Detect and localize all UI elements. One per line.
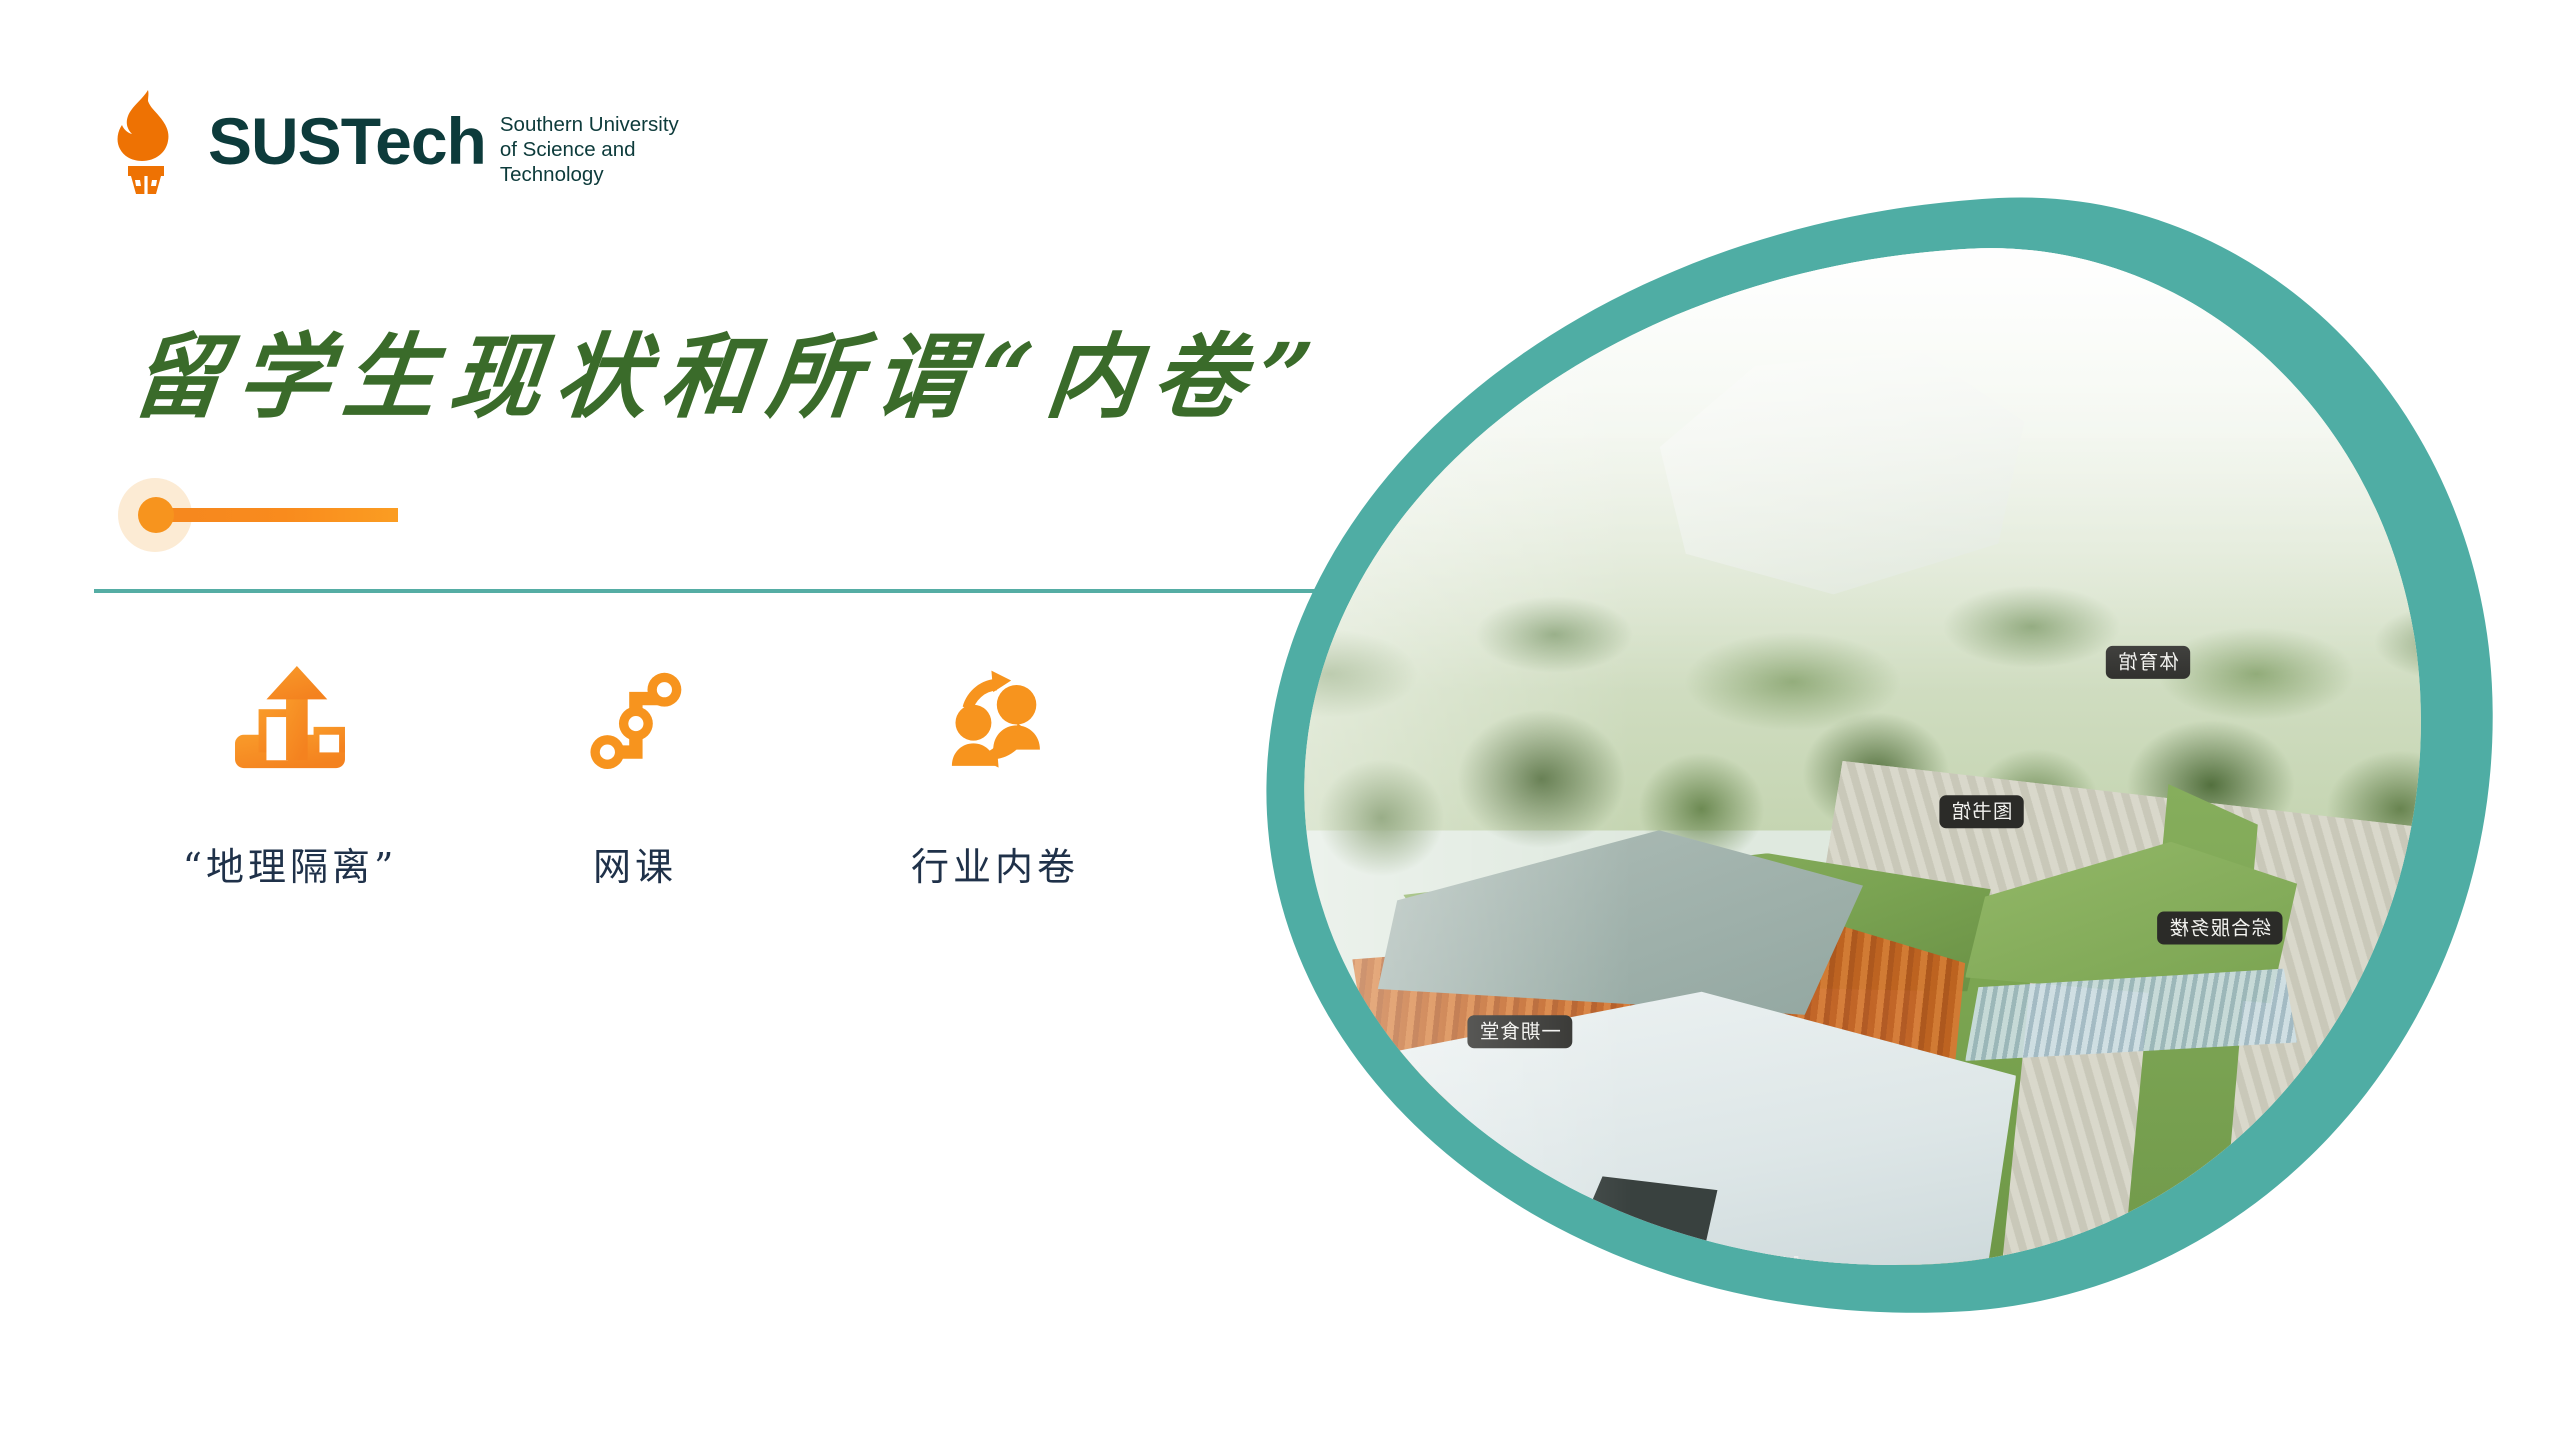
campus-aerial-render: 图书馆 一期食堂 体育馆 综合服务楼 HUAYI 法国 AS 建筑工作室 ARC…	[1277, 226, 2448, 1295]
logo-wordmark-rest: Tech	[341, 104, 486, 178]
node-network-icon	[485, 655, 785, 785]
logo-subtitle-line3: Technology	[500, 162, 679, 187]
render-left-fade	[1277, 226, 1633, 1295]
map-label-complex: 综合服务楼	[2157, 911, 2282, 944]
feature-item[interactable]: 行业内卷	[845, 655, 1145, 891]
campus-photo-blob: 图书馆 一期食堂 体育馆 综合服务楼 HUAYI 法国 AS 建筑工作室 ARC…	[1265, 205, 2495, 1315]
map-label-library: 图书馆	[1940, 796, 2024, 829]
logo-wordmark-bold: SUS	[208, 104, 341, 178]
logo-subtitle-line1: Southern University	[500, 112, 679, 137]
sustech-logo: SUSTech Southern University of Science a…	[98, 88, 679, 198]
presentation-slide: SUSTech Southern University of Science a…	[0, 0, 2560, 1440]
slider-track[interactable]	[146, 508, 398, 522]
feature-item[interactable]: “地理隔离”	[140, 655, 440, 891]
logo-subtitle-line2: of Science and	[500, 137, 679, 162]
feature-label: 网课	[485, 843, 785, 891]
feature-label: 行业内卷	[845, 843, 1145, 891]
feature-label: “地理隔离”	[140, 843, 440, 891]
orange-progress-slider[interactable]	[118, 478, 398, 552]
sustech-torch-logo-icon	[98, 88, 194, 196]
slide-title: 留学生现状和所谓“内卷”	[126, 322, 1331, 432]
slider-knob[interactable]	[138, 497, 174, 533]
feature-item[interactable]: 网课	[485, 655, 785, 891]
logo-wordmark: SUSTech	[208, 104, 486, 178]
bar-chart-up-arrow-icon	[140, 655, 440, 785]
feature-row: “地理隔离” 网课	[130, 655, 1230, 935]
render-content: 图书馆 一期食堂 体育馆 综合服务楼 HUAYI 法国 AS 建筑工作室 ARC…	[1277, 226, 2448, 1295]
people-exchange-icon	[845, 655, 1145, 785]
logo-subtitle: Southern University of Science and Techn…	[500, 112, 679, 187]
